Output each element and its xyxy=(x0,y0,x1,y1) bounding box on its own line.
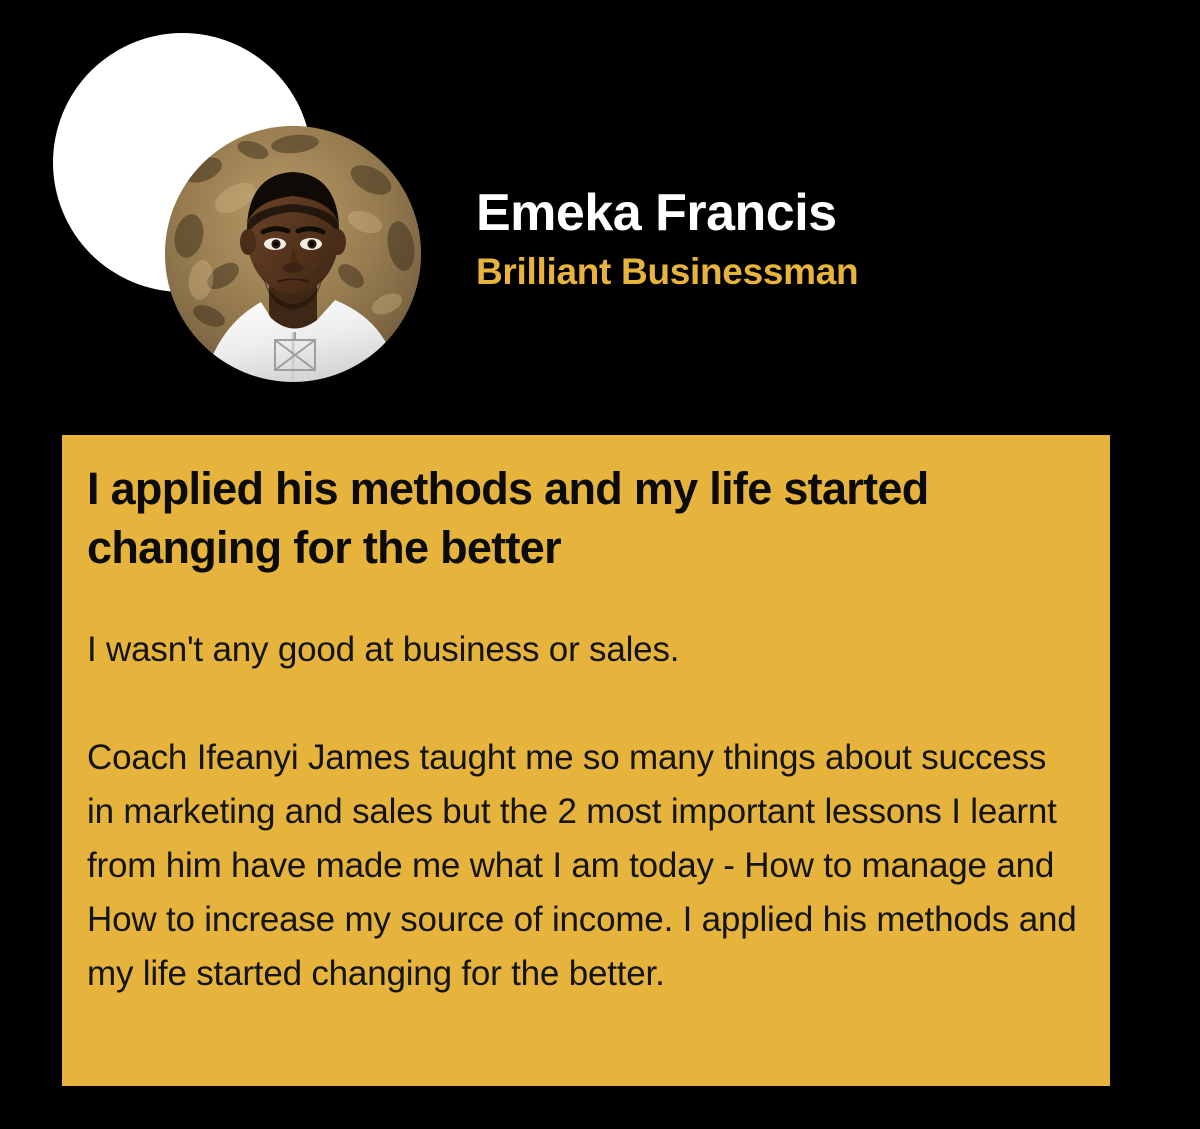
avatar xyxy=(165,126,421,382)
testimonial-headline: I applied his methods and my life starte… xyxy=(87,459,1072,577)
person-title: Brilliant Businessman xyxy=(476,244,1176,294)
testimonial-screenshot: Emeka Francis Brilliant Businessman I ap… xyxy=(0,0,1200,1129)
identity-block: Emeka Francis Brilliant Businessman xyxy=(476,182,1176,294)
testimonial-card: I applied his methods and my life starte… xyxy=(62,435,1110,1086)
person-name: Emeka Francis xyxy=(476,182,1176,244)
testimonial-body: I wasn't any good at business or sales. … xyxy=(87,577,1082,1001)
profile-header: Emeka Francis Brilliant Businessman xyxy=(0,0,1200,420)
